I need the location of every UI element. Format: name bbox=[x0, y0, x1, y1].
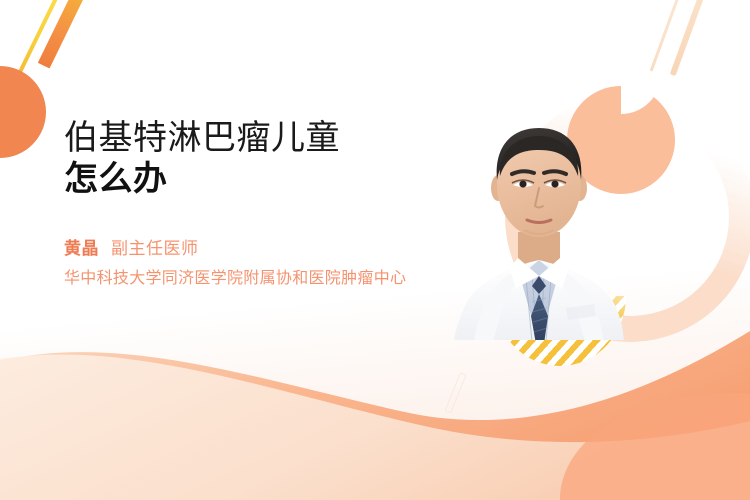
page-title-line-2: 怎么办 bbox=[64, 158, 464, 200]
speaker-affiliation: 华中科技大学同济医学院附属协和医院肿瘤中心 bbox=[64, 267, 454, 290]
speaker-name: 黄晶 bbox=[64, 239, 99, 258]
speaker-rank: 副主任医师 bbox=[111, 239, 199, 258]
video-cover-card: 伯基特淋巴瘤儿童 怎么办 黄晶副主任医师 华中科技大学同济医学院附属协和医院肿瘤… bbox=[0, 0, 750, 500]
text-block: 伯基特淋巴瘤儿童 怎么办 黄晶副主任医师 华中科技大学同济医学院附属协和医院肿瘤… bbox=[64, 118, 464, 290]
doctor-portrait bbox=[446, 92, 632, 340]
page-title-line-1: 伯基特淋巴瘤儿童 bbox=[64, 118, 464, 158]
speaker-byline: 黄晶副主任医师 bbox=[64, 234, 464, 259]
bottom-wave-decoration bbox=[0, 325, 750, 500]
